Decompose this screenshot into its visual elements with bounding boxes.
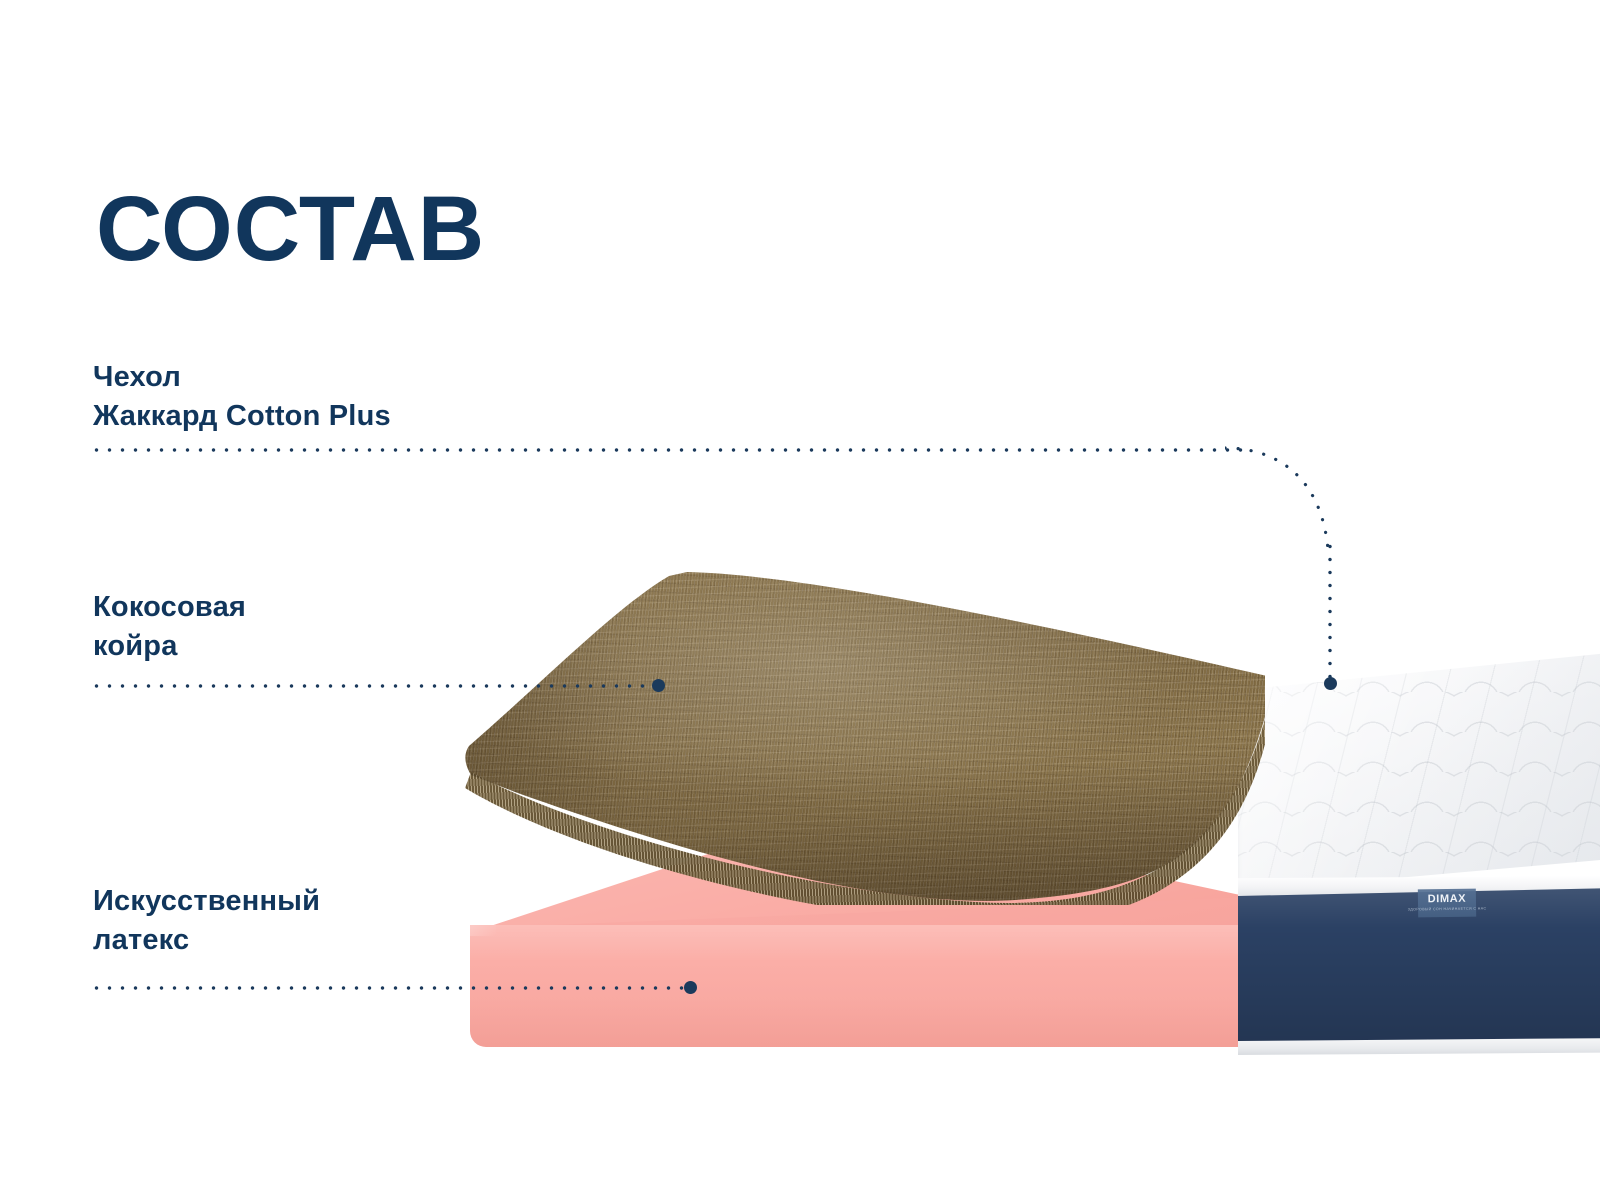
- layer-label-cover: Чехол Жаккард Cotton Plus: [93, 358, 391, 436]
- layer-label-latex: Искусственный латекс: [93, 882, 320, 960]
- dimax-brand-label: DIMAX ЗДОРОВЫЙ СОН НАЧИНАЕТСЯ С НАС: [1418, 889, 1476, 918]
- latex-layer-top-face: [470, 806, 1260, 932]
- latex-layer-bevel: [470, 900, 496, 936]
- leader-line-cover: [90, 448, 1245, 452]
- leader-dot-cover: [1324, 677, 1337, 690]
- latex-layer-deck: [470, 808, 1260, 928]
- leader-line-coir: [90, 684, 655, 688]
- cover-top-piping: [1238, 876, 1600, 898]
- cover-side-shading: [1238, 888, 1600, 1048]
- leader-line-latex: [90, 986, 685, 990]
- dimax-brand-name: DIMAX: [1428, 894, 1467, 906]
- cover-side-panel: [1238, 888, 1600, 1048]
- leader-line-cover-curve: [1225, 437, 1345, 557]
- leader-dot-latex: [684, 981, 697, 994]
- cover-bottom-piping: [1238, 1037, 1600, 1055]
- cover-quilted-top: [1238, 652, 1600, 892]
- coir-layer-sheet: [455, 560, 1265, 905]
- layer-label-coir: Кокосовая койра: [93, 588, 246, 666]
- page-title: СОСТАВ: [96, 183, 485, 275]
- leader-line-cover-vertical: [1328, 540, 1332, 685]
- cover-top-sheen: [1238, 652, 1600, 892]
- coir-layer-cut-edge: [455, 560, 1265, 905]
- coir-layer-shading: [455, 560, 1265, 905]
- composition-infographic: DIMAX ЗДОРОВЫЙ СОН НАЧИНАЕТСЯ С НАС СОСТ…: [0, 0, 1600, 1200]
- dimax-tagline: ЗДОРОВЫЙ СОН НАЧИНАЕТСЯ С НАС: [1408, 908, 1487, 913]
- leader-dot-coir: [652, 679, 665, 692]
